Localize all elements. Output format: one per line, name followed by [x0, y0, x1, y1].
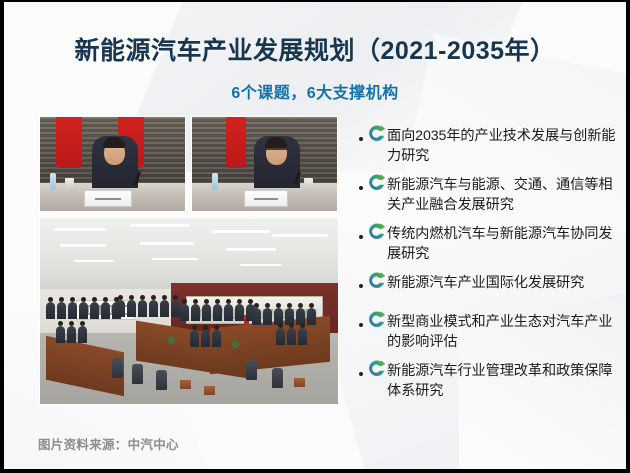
bullet-dot: [359, 323, 363, 327]
slide-canvas: 新能源汽车产业发展规划（2021-2035年） 6个课题，6大支撑机构: [4, 2, 626, 469]
list-item[interactable]: 新能源汽车行业管理改革和政策保障体系研究: [353, 361, 621, 401]
water-bottle: [50, 173, 56, 190]
circular-arrow-icon: [366, 269, 388, 291]
ceiling-light: [130, 224, 190, 227]
chair: [156, 370, 167, 390]
bullet-dot: [359, 235, 363, 239]
circular-arrow-icon: [366, 308, 388, 330]
ceiling-light: [152, 258, 198, 260]
attendee: [160, 300, 169, 317]
ceiling-light: [240, 264, 282, 266]
attendee: [307, 308, 316, 325]
bullet-dot: [359, 137, 363, 141]
list-item[interactable]: 新能源汽车与能源、交通、通信等相关产业融合发展研究: [353, 175, 621, 215]
attendee: [201, 330, 210, 347]
attendee: [79, 302, 88, 319]
list-item-label: 面向2035年的产业技术发展与创新能力研究: [387, 126, 621, 166]
attendee: [212, 330, 221, 347]
circular-arrow-icon: [366, 220, 388, 242]
attendee: [298, 328, 307, 345]
photo-official-right: [191, 116, 338, 212]
slide-header: 新能源汽车产业发展规划（2021-2035年） 6个课题，6大支撑机构: [4, 2, 626, 103]
attendee-row: [190, 330, 221, 347]
tea-cup: [65, 178, 74, 190]
attendee: [101, 302, 110, 319]
official-hair: [265, 137, 287, 148]
attendee: [46, 302, 55, 319]
attendee: [56, 326, 65, 343]
ceiling-light: [140, 242, 194, 245]
red-flag: [56, 116, 82, 168]
attendee: [127, 300, 136, 317]
eyeglasses: [265, 148, 287, 155]
attendee: [57, 302, 66, 319]
attendee: [149, 300, 158, 317]
source-caption: 图片资料来源：中汽中心: [38, 434, 179, 453]
attendee: [202, 304, 211, 321]
attendee: [252, 308, 261, 325]
ceiling-light: [74, 260, 114, 262]
list-item[interactable]: 面向2035年的产业技术发展与创新能力研究: [353, 126, 621, 166]
name-plate: [244, 190, 288, 207]
attendee-row: [180, 304, 255, 321]
photo-conference-room: [39, 217, 339, 405]
attendee: [190, 330, 199, 347]
attendee: [224, 304, 233, 321]
attendee: [116, 300, 125, 317]
attendee: [90, 302, 99, 319]
red-flag: [226, 116, 246, 168]
attendee: [213, 304, 222, 321]
page-title: 新能源汽车产业发展规划（2021-2035年）: [4, 2, 626, 67]
ceiling-light: [226, 248, 276, 251]
attendee-row: [116, 300, 180, 317]
attendee: [68, 302, 77, 319]
bullet-dot: [359, 186, 363, 190]
ceiling-light: [60, 244, 106, 247]
attendee: [276, 328, 285, 345]
tea-cup: [304, 178, 313, 190]
attendee: [235, 304, 244, 321]
topic-list: 面向2035年的产业技术发展与创新能力研究 新能源汽车与能源、交通、通信等相关产…: [353, 126, 621, 410]
ceiling-light: [54, 228, 106, 231]
water-bottle: [212, 173, 218, 190]
list-item[interactable]: 新型商业模式和产业生态对汽车产业的影响评估: [353, 312, 621, 352]
list-item-label: 新型商业模式和产业生态对汽车产业的影响评估: [387, 312, 621, 352]
bullet-dot: [359, 372, 363, 376]
photo-column: [39, 116, 339, 405]
attendee: [138, 300, 147, 317]
chair: [112, 358, 123, 378]
chair: [132, 364, 143, 384]
circular-arrow-icon: [366, 171, 388, 193]
attendee: [287, 328, 296, 345]
ceiling-light: [212, 230, 270, 233]
attendee: [171, 300, 180, 317]
official-hair: [103, 137, 125, 148]
wooden-chair: [180, 380, 191, 389]
attendee-row: [56, 326, 87, 343]
wooden-chair: [204, 386, 215, 395]
attendee: [263, 308, 272, 325]
list-item[interactable]: 传统内燃机汽车与新能源汽车协同发展研究: [353, 224, 621, 264]
photo-row: [39, 116, 339, 212]
attendee-row: [276, 328, 307, 345]
list-item-label: 新能源汽车与能源、交通、通信等相关产业融合发展研究: [387, 175, 621, 215]
photo-official-left: [39, 116, 186, 212]
table-plant: [232, 340, 239, 348]
attendee-row: [46, 302, 121, 319]
circular-arrow-icon: [366, 122, 388, 144]
name-plate: [84, 190, 132, 207]
bullet-dot: [359, 284, 363, 288]
attendee-row: [252, 308, 316, 325]
attendee: [78, 326, 87, 343]
list-item[interactable]: 新能源汽车产业国际化发展研究: [353, 273, 621, 303]
attendee: [180, 304, 189, 321]
list-item-label: 传统内燃机汽车与新能源汽车协同发展研究: [387, 224, 621, 264]
list-item-label: 新能源汽车产业国际化发展研究: [387, 273, 621, 293]
chair: [272, 368, 283, 388]
page-subtitle: 6个课题，6大支撑机构: [4, 67, 626, 103]
slide-frame: 新能源汽车产业发展规划（2021-2035年） 6个课题，6大支撑机构: [0, 0, 630, 473]
circular-arrow-icon: [366, 357, 388, 379]
wooden-chair: [294, 378, 305, 387]
ceiling-light: [272, 234, 328, 237]
list-item-label: 新能源汽车行业管理改革和政策保障体系研究: [387, 361, 621, 401]
attendee: [67, 326, 76, 343]
attendee: [191, 304, 200, 321]
table-plant: [168, 336, 175, 344]
chair: [246, 360, 257, 380]
